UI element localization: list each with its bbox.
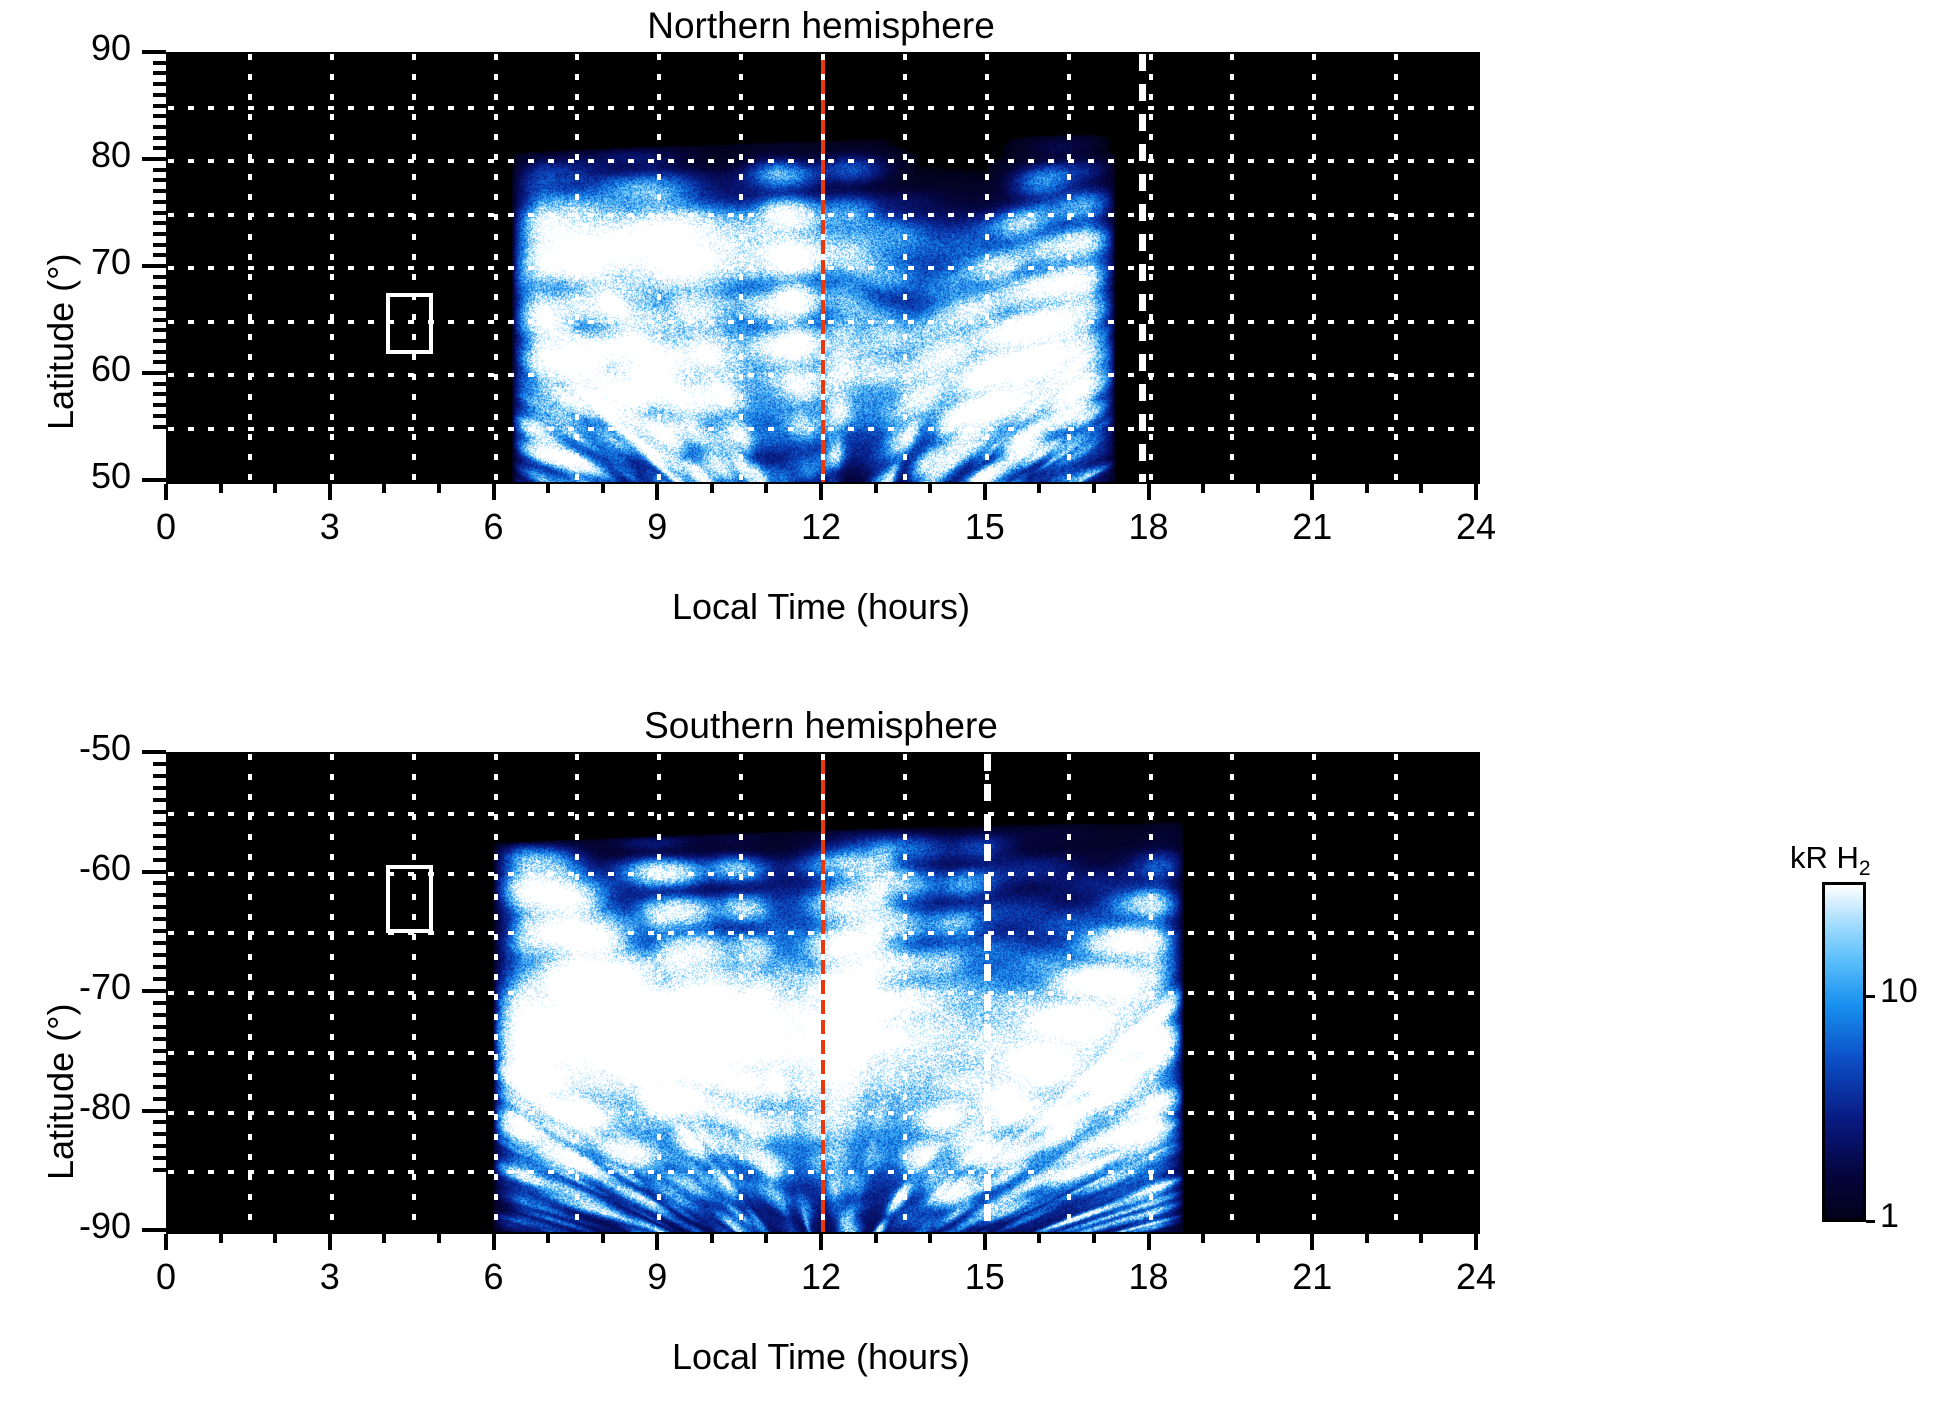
gridline-vertical bbox=[985, 54, 989, 482]
y-tick-minor bbox=[153, 846, 166, 850]
y-tick-minor bbox=[153, 1085, 166, 1089]
y-tick-major bbox=[142, 478, 166, 482]
x-tick-minor bbox=[601, 484, 605, 493]
y-tick-minor bbox=[153, 414, 166, 418]
x-tick-minor bbox=[437, 484, 441, 493]
y-tick-label: -70 bbox=[0, 966, 131, 1008]
gridline-vertical bbox=[575, 54, 579, 482]
y-tick-minor bbox=[153, 941, 166, 945]
x-tick-major bbox=[819, 484, 823, 500]
y-tick-minor bbox=[153, 71, 166, 75]
gridline-vertical bbox=[330, 754, 334, 1232]
y-tick-minor bbox=[153, 1025, 166, 1029]
gridline-vertical bbox=[412, 54, 416, 482]
gridline-vertical bbox=[330, 54, 334, 482]
x-tick-major bbox=[655, 1234, 659, 1250]
plot-area-northern[interactable] bbox=[166, 52, 1480, 484]
y-tick-minor bbox=[153, 125, 166, 129]
y-tick-minor bbox=[153, 1073, 166, 1077]
gridline-vertical bbox=[494, 754, 498, 1232]
x-tick-minor bbox=[1365, 484, 1369, 493]
y-tick-minor bbox=[153, 917, 166, 921]
colorbar-title-subscript: 2 bbox=[1859, 857, 1871, 880]
y-tick-minor bbox=[153, 61, 166, 65]
x-tick-label: 12 bbox=[761, 506, 881, 548]
x-tick-label: 24 bbox=[1416, 1256, 1536, 1298]
gridline-vertical bbox=[1149, 54, 1153, 482]
y-tick-minor bbox=[153, 1156, 166, 1160]
y-tick-minor bbox=[153, 965, 166, 969]
x-tick-minor bbox=[601, 1234, 605, 1243]
y-tick-major bbox=[142, 157, 166, 161]
y-tick-minor bbox=[153, 178, 166, 182]
y-tick-label: -50 bbox=[0, 727, 131, 769]
x-tick-label: 15 bbox=[925, 1256, 1045, 1298]
gridline-vertical bbox=[821, 754, 825, 1232]
y-tick-minor bbox=[153, 403, 166, 407]
y-tick-minor bbox=[153, 834, 166, 838]
y-tick-minor bbox=[153, 93, 166, 97]
gridline-vertical bbox=[1394, 754, 1398, 1232]
figure-root: Northern hemisphere 03691215182124908070… bbox=[0, 0, 1950, 1423]
panel-title-southern: Southern hemisphere bbox=[166, 705, 1476, 747]
colorbar-group: kR H2 10 1 bbox=[1790, 840, 1950, 1240]
y-tick-minor bbox=[153, 285, 166, 289]
y-tick-major bbox=[142, 264, 166, 268]
y-tick-minor bbox=[153, 82, 166, 86]
x-axis-title-northern: Local Time (hours) bbox=[166, 586, 1476, 628]
x-tick-minor bbox=[1092, 1234, 1096, 1243]
y-tick-minor bbox=[153, 1049, 166, 1053]
x-tick-label: 15 bbox=[925, 506, 1045, 548]
x-tick-major bbox=[819, 1234, 823, 1250]
x-tick-major bbox=[1147, 1234, 1151, 1250]
y-tick-minor bbox=[153, 360, 166, 364]
gridline-vertical bbox=[903, 54, 907, 482]
colorbar-label-1: 1 bbox=[1880, 1197, 1899, 1236]
y-tick-minor bbox=[153, 1132, 166, 1136]
gridline-vertical bbox=[1312, 54, 1316, 482]
x-tick-major bbox=[1474, 1234, 1478, 1250]
x-tick-label: 21 bbox=[1252, 506, 1372, 548]
x-tick-minor bbox=[273, 1234, 277, 1243]
gridline-vertical bbox=[248, 54, 252, 482]
gridline-vertical bbox=[985, 754, 989, 1232]
gridline-vertical bbox=[739, 54, 743, 482]
gridline-vertical bbox=[1394, 54, 1398, 482]
y-tick-label: 50 bbox=[0, 455, 131, 497]
x-tick-minor bbox=[1037, 484, 1041, 493]
x-tick-minor bbox=[1256, 484, 1260, 493]
x-tick-major bbox=[1147, 484, 1151, 500]
y-tick-minor bbox=[153, 1120, 166, 1124]
x-tick-label: 6 bbox=[434, 506, 554, 548]
x-tick-minor bbox=[928, 1234, 932, 1243]
x-tick-major bbox=[164, 1234, 168, 1250]
y-tick-minor bbox=[153, 136, 166, 140]
y-tick-minor bbox=[153, 774, 166, 778]
y-tick-minor bbox=[153, 200, 166, 204]
colorbar-tick-1 bbox=[1866, 1220, 1875, 1223]
y-tick-minor bbox=[153, 392, 166, 396]
gridline-vertical bbox=[903, 754, 907, 1232]
y-tick-label: 80 bbox=[0, 134, 131, 176]
x-tick-major bbox=[1310, 484, 1314, 500]
gridline-vertical bbox=[1067, 54, 1071, 482]
gridline-vertical bbox=[657, 54, 661, 482]
gridline-vertical bbox=[1312, 754, 1316, 1232]
y-tick-minor bbox=[153, 798, 166, 802]
x-tick-major bbox=[983, 484, 987, 500]
x-tick-minor bbox=[928, 484, 932, 493]
y-tick-minor bbox=[153, 1097, 166, 1101]
y-tick-major bbox=[142, 870, 166, 874]
x-tick-major bbox=[1474, 484, 1478, 500]
x-tick-major bbox=[655, 484, 659, 500]
colorbar-gradient[interactable] bbox=[1822, 882, 1866, 1222]
y-tick-minor bbox=[153, 1144, 166, 1148]
y-tick-minor bbox=[153, 953, 166, 957]
x-tick-minor bbox=[219, 1234, 223, 1243]
x-tick-minor bbox=[764, 484, 768, 493]
colorbar-title: kR H2 bbox=[1790, 840, 1871, 881]
y-tick-major bbox=[142, 989, 166, 993]
gridline-vertical bbox=[1230, 54, 1234, 482]
colorbar-tick-10 bbox=[1866, 995, 1875, 998]
y-tick-minor bbox=[153, 296, 166, 300]
y-tick-label: -90 bbox=[0, 1205, 131, 1247]
y-tick-minor bbox=[153, 893, 166, 897]
y-tick-minor bbox=[153, 168, 166, 172]
y-tick-minor bbox=[153, 189, 166, 193]
plot-area-southern[interactable] bbox=[166, 752, 1480, 1234]
x-tick-label: 12 bbox=[761, 1256, 881, 1298]
x-tick-major bbox=[328, 484, 332, 500]
x-tick-minor bbox=[437, 1234, 441, 1243]
y-tick-minor bbox=[153, 1061, 166, 1065]
x-tick-label: 18 bbox=[1089, 506, 1209, 548]
x-tick-major bbox=[492, 484, 496, 500]
y-tick-minor bbox=[153, 253, 166, 257]
y-tick-minor bbox=[153, 810, 166, 814]
y-tick-minor bbox=[153, 275, 166, 279]
x-tick-minor bbox=[710, 484, 714, 493]
gridline-vertical bbox=[1067, 754, 1071, 1232]
x-tick-label: 9 bbox=[597, 506, 717, 548]
y-tick-label: -60 bbox=[0, 847, 131, 889]
y-tick-minor bbox=[153, 1168, 166, 1172]
gridline-vertical bbox=[821, 54, 825, 482]
y-tick-minor bbox=[153, 339, 166, 343]
y-tick-major bbox=[142, 1228, 166, 1232]
gridline-vertical bbox=[1230, 754, 1234, 1232]
y-tick-minor bbox=[153, 977, 166, 981]
x-tick-minor bbox=[382, 1234, 386, 1243]
y-tick-minor bbox=[153, 1037, 166, 1041]
y-tick-label: 90 bbox=[0, 27, 131, 69]
y-tick-minor bbox=[153, 307, 166, 311]
x-tick-minor bbox=[1092, 484, 1096, 493]
x-tick-label: 3 bbox=[270, 506, 390, 548]
x-tick-label: 18 bbox=[1089, 1256, 1209, 1298]
y-tick-minor bbox=[153, 929, 166, 933]
x-tick-major bbox=[1310, 1234, 1314, 1250]
x-tick-label: 9 bbox=[597, 1256, 717, 1298]
y-tick-minor bbox=[153, 881, 166, 885]
y-tick-minor bbox=[153, 146, 166, 150]
x-tick-minor bbox=[1201, 484, 1205, 493]
y-tick-major bbox=[142, 750, 166, 754]
y-tick-minor bbox=[153, 243, 166, 247]
x-tick-minor bbox=[710, 1234, 714, 1243]
x-tick-minor bbox=[273, 484, 277, 493]
x-tick-label: 21 bbox=[1252, 1256, 1372, 1298]
x-tick-minor bbox=[874, 1234, 878, 1243]
x-tick-minor bbox=[1256, 1234, 1260, 1243]
x-tick-minor bbox=[546, 484, 550, 493]
y-tick-minor bbox=[153, 822, 166, 826]
x-tick-major bbox=[492, 1234, 496, 1250]
y-tick-minor bbox=[153, 318, 166, 322]
panel-title-northern: Northern hemisphere bbox=[166, 5, 1476, 47]
colorbar-label-10: 10 bbox=[1880, 972, 1918, 1011]
x-tick-label: 24 bbox=[1416, 506, 1536, 548]
x-tick-minor bbox=[546, 1234, 550, 1243]
y-tick-major bbox=[142, 50, 166, 54]
gridline-vertical bbox=[1149, 754, 1153, 1232]
x-tick-minor bbox=[764, 1234, 768, 1243]
x-tick-minor bbox=[1201, 1234, 1205, 1243]
x-tick-minor bbox=[1419, 484, 1423, 493]
colorbar-title-text: kR H bbox=[1790, 840, 1859, 875]
gridline-vertical bbox=[248, 754, 252, 1232]
x-tick-minor bbox=[1037, 1234, 1041, 1243]
x-tick-minor bbox=[382, 484, 386, 493]
x-tick-label: 3 bbox=[270, 1256, 390, 1298]
x-tick-major bbox=[983, 1234, 987, 1250]
gridline-vertical bbox=[494, 54, 498, 482]
y-tick-minor bbox=[153, 232, 166, 236]
y-tick-minor bbox=[153, 382, 166, 386]
y-tick-minor bbox=[153, 905, 166, 909]
x-tick-label: 6 bbox=[434, 1256, 554, 1298]
y-tick-minor bbox=[153, 328, 166, 332]
y-tick-minor bbox=[153, 221, 166, 225]
x-tick-label: 0 bbox=[106, 1256, 226, 1298]
y-axis-title-southern: Latitude (°) bbox=[40, 1004, 82, 1180]
y-tick-minor bbox=[153, 104, 166, 108]
gridline-vertical bbox=[739, 754, 743, 1232]
gridline-vertical bbox=[575, 754, 579, 1232]
y-tick-minor bbox=[153, 762, 166, 766]
y-tick-major bbox=[142, 371, 166, 375]
x-tick-minor bbox=[219, 484, 223, 493]
x-tick-major bbox=[164, 484, 168, 500]
y-tick-minor bbox=[153, 114, 166, 118]
x-tick-minor bbox=[1419, 1234, 1423, 1243]
y-tick-minor bbox=[153, 350, 166, 354]
x-tick-minor bbox=[1365, 1234, 1369, 1243]
y-tick-minor bbox=[153, 425, 166, 429]
x-tick-minor bbox=[874, 484, 878, 493]
y-tick-major bbox=[142, 1109, 166, 1113]
y-axis-title-northern: Latitude (°) bbox=[40, 254, 82, 430]
x-tick-major bbox=[328, 1234, 332, 1250]
y-tick-minor bbox=[153, 786, 166, 790]
panel-northern: Northern hemisphere 03691215182124908070… bbox=[0, 0, 1950, 700]
panel-southern: Southern hemisphere 03691215182124-50-60… bbox=[0, 700, 1950, 1423]
y-tick-minor bbox=[153, 858, 166, 862]
y-tick-minor bbox=[153, 211, 166, 215]
y-tick-minor bbox=[153, 1001, 166, 1005]
y-tick-minor bbox=[153, 1013, 166, 1017]
x-axis-title-southern: Local Time (hours) bbox=[166, 1336, 1476, 1378]
x-tick-label: 0 bbox=[106, 506, 226, 548]
gridline-vertical bbox=[657, 754, 661, 1232]
gridline-vertical bbox=[412, 754, 416, 1232]
